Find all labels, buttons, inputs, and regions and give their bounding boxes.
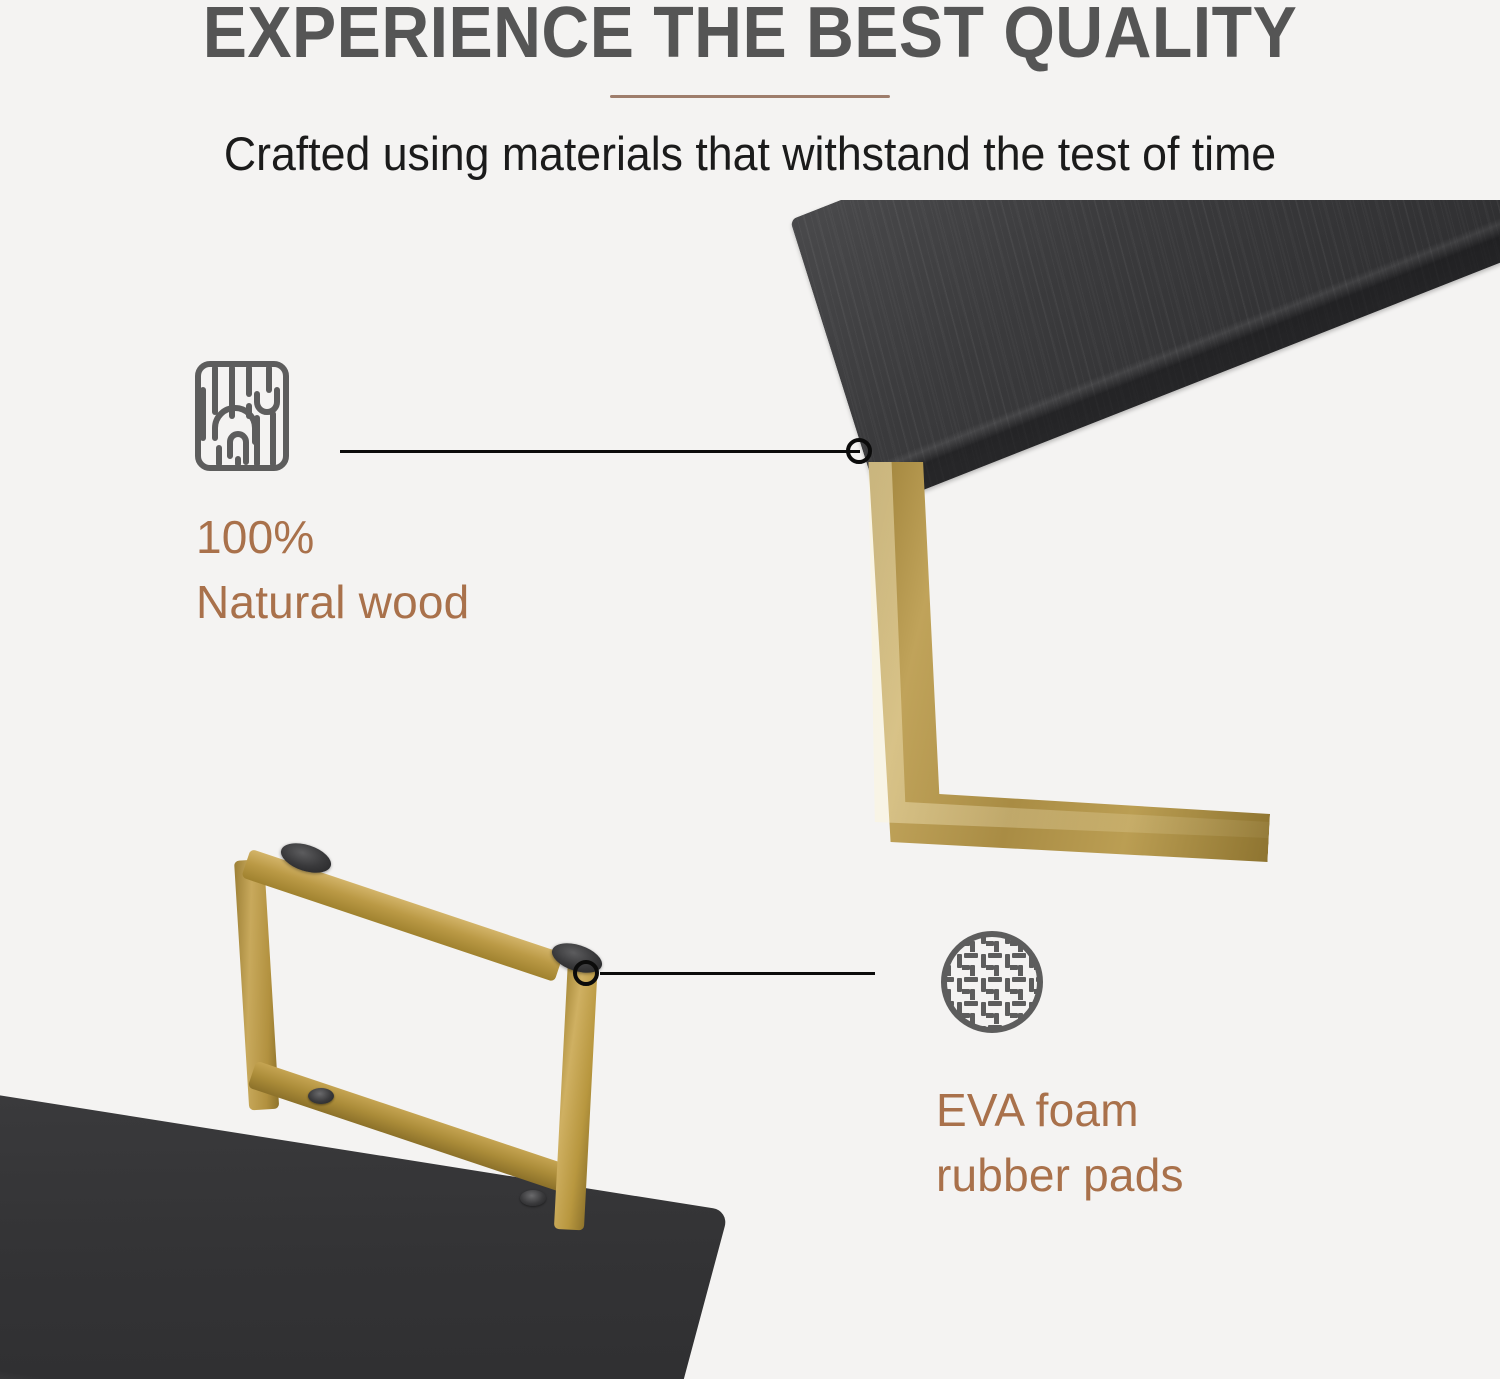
gold-leg-frame [848, 462, 1289, 862]
bracket-bottom-bar [248, 1061, 579, 1195]
callout-label-eva-foam: EVA foam rubber pads [936, 1078, 1184, 1209]
bracket-top-bar [241, 849, 563, 982]
title-divider [610, 95, 890, 98]
leader-line-eva-foam [600, 972, 875, 975]
woven-foam-icon [938, 928, 1046, 1041]
gold-u-bracket [228, 846, 648, 1256]
page-subtitle: Crafted using materials that withstand t… [38, 126, 1463, 181]
mounting-screw [308, 1088, 334, 1104]
mounting-screw [520, 1190, 546, 1206]
callout-marker-eva-foam [573, 960, 599, 986]
wood-grain-icon [194, 360, 290, 477]
wood-shelf-edge [790, 200, 1500, 507]
page-title: EXPERIENCE THE BEST QUALITY [60, 0, 1440, 74]
callout-marker-natural-wood [846, 438, 872, 464]
product-photo-riser-top [760, 200, 1500, 890]
bracket-right-bar [554, 959, 598, 1230]
callout-label-natural-wood: 100% Natural wood [196, 505, 469, 636]
leader-line-natural-wood [340, 450, 860, 453]
infographic-page: EXPERIENCE THE BEST QUALITY Crafted usin… [0, 0, 1500, 1379]
